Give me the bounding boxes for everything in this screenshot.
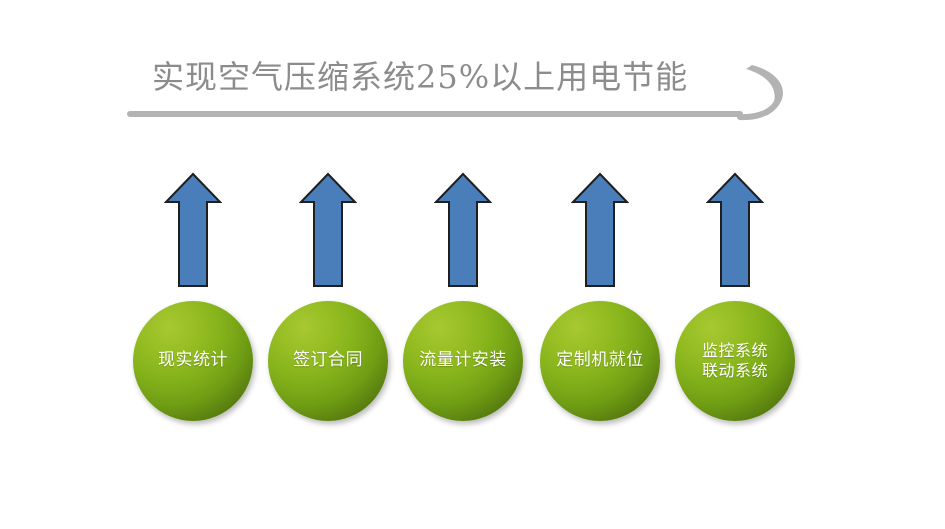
process-step-label-4: 定制机就位 bbox=[552, 350, 648, 371]
process-step-circle-5[interactable]: 监控系统 联动系统 bbox=[675, 301, 795, 421]
up-arrow-icon-4 bbox=[571, 172, 629, 288]
process-step-circle-2[interactable]: 签订合同 bbox=[268, 301, 388, 421]
up-arrow-icon-1 bbox=[164, 172, 222, 288]
title-banner: 实现空气压缩系统25%以上用电节能 bbox=[126, 40, 786, 124]
up-arrow-icon-2 bbox=[299, 172, 357, 288]
up-arrow-icon-3 bbox=[434, 172, 492, 288]
process-step-label-3: 流量计安装 bbox=[415, 350, 511, 371]
up-arrow-icon-5 bbox=[706, 172, 764, 288]
process-step-circle-3[interactable]: 流量计安装 bbox=[403, 301, 523, 421]
process-step-circle-1[interactable]: 现实统计 bbox=[133, 301, 253, 421]
slide-canvas: 实现空气压缩系统25%以上用电节能 现实统计 签订合同 流量计安装 定制机 bbox=[0, 0, 945, 529]
process-step-label-5: 监控系统 联动系统 bbox=[698, 341, 772, 381]
process-step-label-2: 签订合同 bbox=[289, 350, 367, 371]
page-title: 实现空气压缩系统25%以上用电节能 bbox=[152, 48, 752, 106]
process-step-circle-4[interactable]: 定制机就位 bbox=[540, 301, 660, 421]
process-step-label-1: 现实统计 bbox=[154, 350, 232, 371]
